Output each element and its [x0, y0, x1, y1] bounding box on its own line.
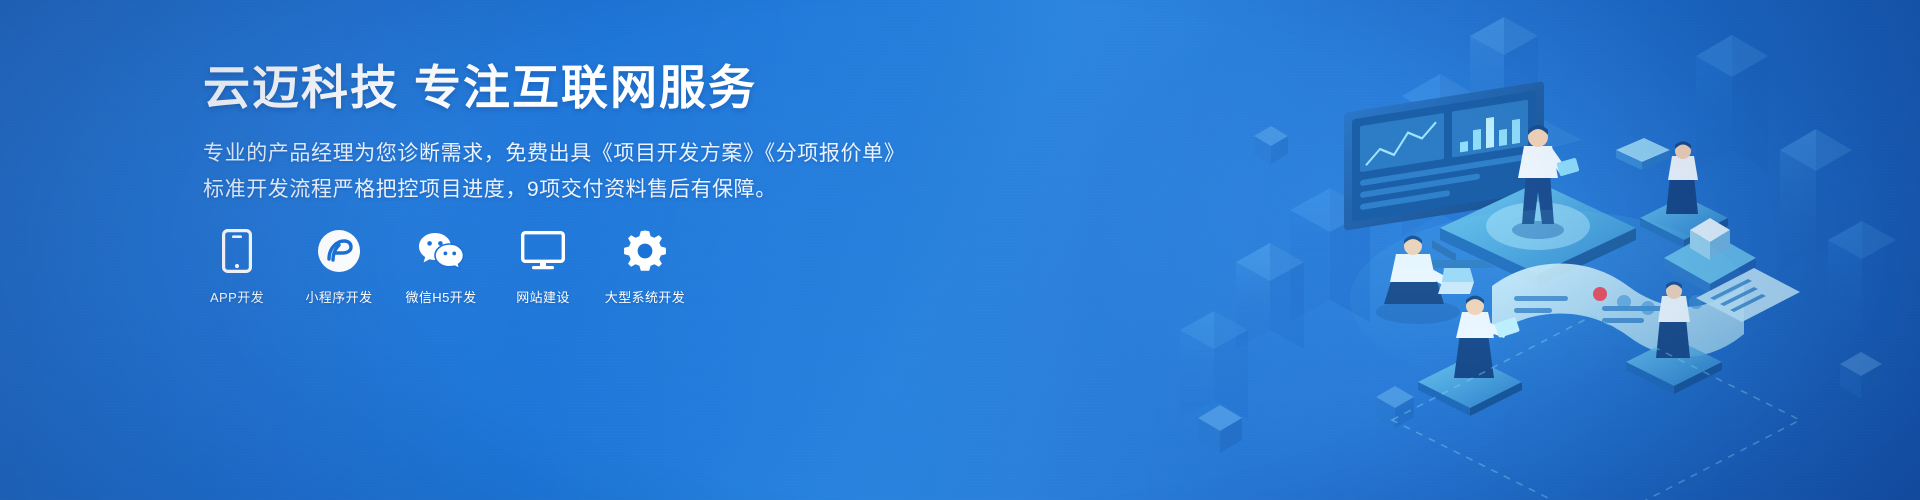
service-item-website[interactable]: 网站建设 — [509, 228, 577, 306]
illustration — [1140, 0, 1920, 500]
service-item-wechat-h5[interactable]: 微信H5开发 — [407, 228, 475, 306]
wechat-icon — [417, 228, 465, 274]
monitor-icon — [521, 228, 565, 274]
service-label: 小程序开发 — [305, 287, 372, 306]
service-label: APP开发 — [210, 287, 264, 306]
subtitle-line-1: 专业的产品经理为您诊断需求，免费出具《项目开发方案》《分项报价单》 — [203, 137, 903, 171]
banner-copy: 云迈科技 专注互联网服务 专业的产品经理为您诊断需求，免费出具《项目开发方案》《… — [203, 62, 903, 207]
service-list: APP开发 小程序开发 — [203, 228, 679, 306]
mini-program-icon — [317, 228, 361, 274]
service-label: 网站建设 — [516, 287, 570, 306]
hero-banner: 云迈科技 专注互联网服务 专业的产品经理为您诊断需求，免费出具《项目开发方案》《… — [0, 0, 1920, 500]
gear-icon — [623, 228, 667, 274]
service-item-mini-program[interactable]: 小程序开发 — [305, 228, 373, 306]
page-title: 云迈科技 专注互联网服务 — [203, 62, 903, 115]
mobile-phone-icon — [222, 228, 252, 274]
service-label: 大型系统开发 — [605, 287, 685, 306]
service-item-large-system[interactable]: 大型系统开发 — [611, 228, 679, 306]
subtitle-line-2: 标准开发流程严格把控项目进度，9项交付资料售后有保障。 — [203, 173, 903, 207]
service-item-app[interactable]: APP开发 — [203, 228, 271, 306]
service-label: 微信H5开发 — [405, 287, 476, 306]
